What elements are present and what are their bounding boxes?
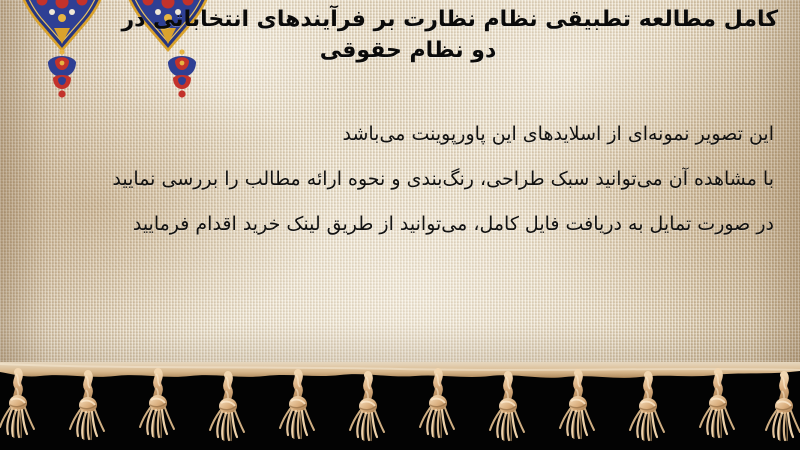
slide-body-line-1: این تصویر نمونه‌ای از اسلایدهای این پاور…	[22, 112, 774, 157]
slide-title-line-2: دو نظام حقوقی	[198, 35, 778, 66]
slide-body-line-3: در صورت تمایل به دریافت فایل کامل، می‌تو…	[22, 202, 774, 247]
slide-body-text: این تصویر نمونه‌ای از اسلایدهای این پاور…	[22, 112, 774, 247]
slide-title-line-1: کامل مطالعه تطبیقی نظام نظارت بر فرآینده…	[198, 4, 778, 35]
black-background-zone	[0, 366, 800, 450]
slide-body-line-2: با مشاهده آن می‌توانید سبک طراحی، رنگ‌بن…	[22, 157, 774, 202]
slide-title: کامل مطالعه تطبیقی نظام نظارت بر فرآینده…	[198, 4, 778, 66]
slide-canvas: کامل مطالعه تطبیقی نظام نظارت بر فرآینده…	[0, 0, 800, 450]
